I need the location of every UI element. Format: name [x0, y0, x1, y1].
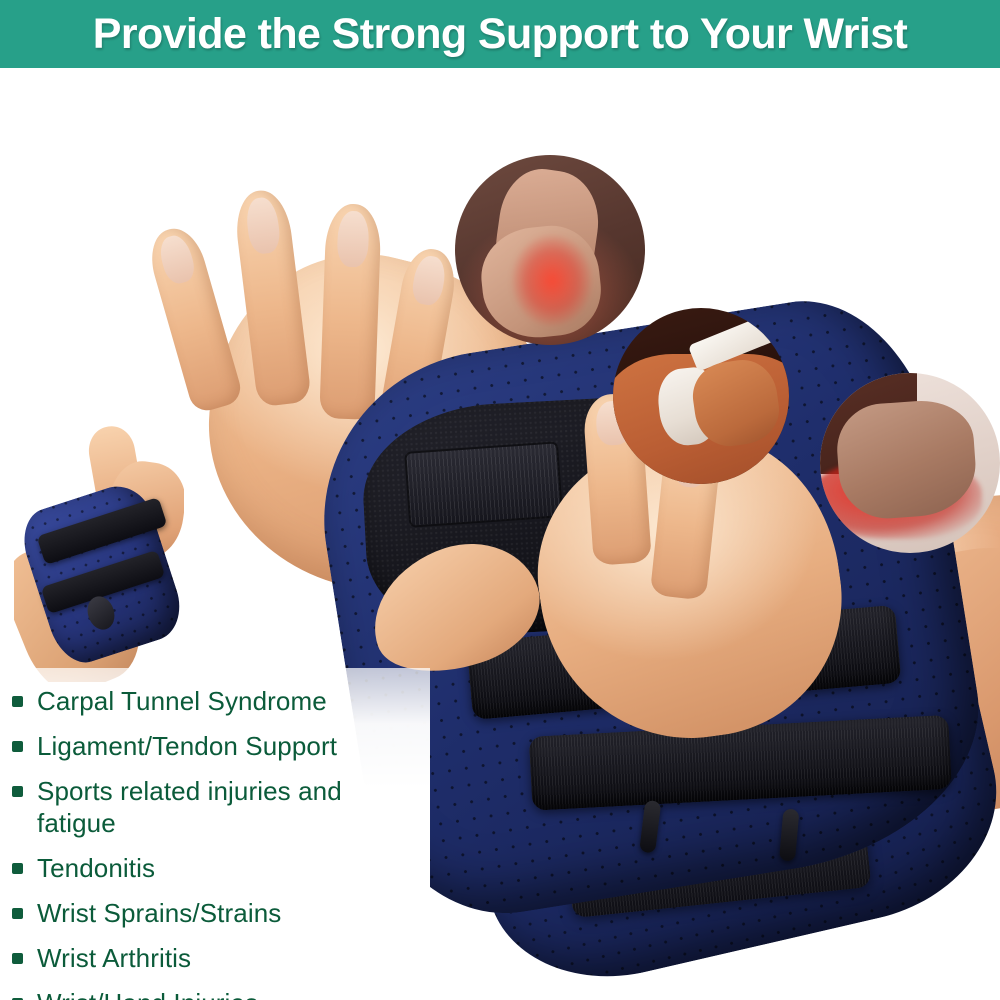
benefit-label: Wrist Sprains/Strains — [37, 898, 281, 929]
bullet-square-icon — [12, 863, 23, 874]
finger — [144, 222, 245, 414]
benefit-label: Wrist/Hand Injuries — [37, 988, 258, 1000]
circle-photo-bandaging-hand — [613, 308, 789, 484]
pain-highlight — [512, 235, 592, 326]
benefit-label: Carpal Tunnel Syndrome — [37, 686, 327, 717]
benefit-label: Sports related injuries and fatigue — [37, 776, 407, 838]
list-item: Wrist/Hand Injuries — [12, 988, 432, 1000]
bullet-square-icon — [12, 953, 23, 964]
list-item: Carpal Tunnel Syndrome — [12, 686, 432, 717]
fingernail — [410, 254, 448, 308]
list-item: Ligament/Tendon Support — [12, 731, 432, 762]
bullet-square-icon — [12, 908, 23, 919]
bullet-square-icon — [12, 696, 23, 707]
list-item: Sports related injuries and fatigue — [12, 776, 432, 838]
inset-photo-thumbs-up-brace — [14, 420, 184, 682]
fingernail — [156, 232, 198, 287]
circle-photo-gripping-sore-wrist — [820, 373, 1000, 553]
list-item: Wrist Sprains/Strains — [12, 898, 432, 929]
product-banner: Provide the Strong Support to Your Wrist — [0, 0, 1000, 1000]
bullet-square-icon — [12, 741, 23, 752]
header-bar: Provide the Strong Support to Your Wrist — [0, 0, 1000, 68]
benefit-label: Ligament/Tendon Support — [37, 731, 337, 762]
benefit-label: Tendonitis — [37, 853, 155, 884]
benefit-list: Carpal Tunnel Syndrome Ligament/Tendon S… — [12, 686, 432, 1000]
velcro-patch — [406, 443, 561, 525]
photo-stage: Carpal Tunnel Syndrome Ligament/Tendon S… — [0, 68, 1000, 1000]
fingernail — [336, 211, 370, 268]
bullet-square-icon — [12, 786, 23, 797]
list-item: Tendonitis — [12, 853, 432, 884]
benefit-label: Wrist Arthritis — [37, 943, 191, 974]
list-item: Wrist Arthritis — [12, 943, 432, 974]
page-title: Provide the Strong Support to Your Wrist — [0, 0, 1000, 68]
fingernail — [244, 196, 282, 255]
